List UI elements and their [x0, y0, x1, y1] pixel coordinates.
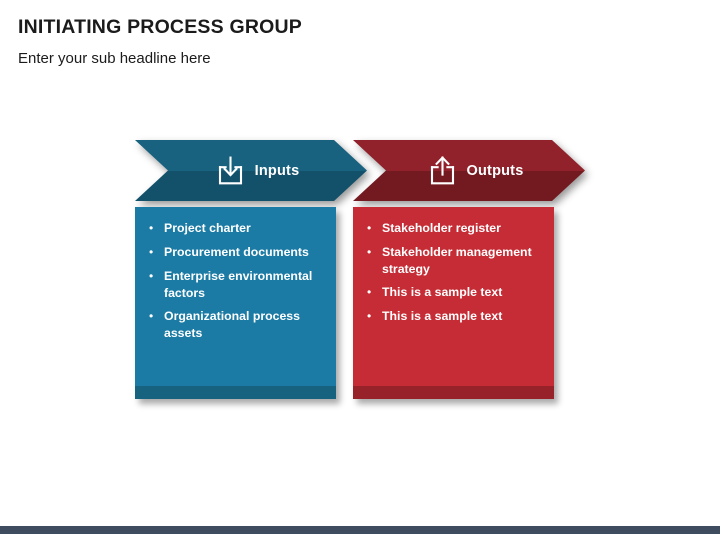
bullet-dot-icon: •	[363, 284, 382, 301]
page-subtitle: Enter your sub headline here	[18, 50, 211, 67]
bullet-dot-icon: •	[145, 244, 164, 261]
banner-bottom-half	[353, 171, 585, 202]
list-item[interactable]: • Enterprise environmental factors	[145, 268, 324, 301]
list-item[interactable]: • This is a sample text	[363, 284, 542, 301]
list-item[interactable]: • Project charter	[145, 220, 324, 237]
banner-chevron-shape	[135, 140, 367, 201]
list-item-label: Procurement documents	[164, 244, 309, 261]
list-item-label: This is a sample text	[382, 308, 502, 325]
column-outputs: Outputs • Stakeholder register • Stakeho…	[353, 140, 585, 201]
list-item-label: Project charter	[164, 220, 251, 237]
banner-top-half	[135, 140, 367, 171]
panel-footer-strip	[353, 386, 554, 399]
bullet-dot-icon: •	[145, 308, 164, 325]
banner-top-half	[353, 140, 585, 171]
list-item-label: Stakeholder management strategy	[382, 244, 542, 277]
list-item-label: This is a sample text	[382, 284, 502, 301]
bullet-dot-icon: •	[363, 220, 382, 237]
list-item[interactable]: • Organizational process assets	[145, 308, 324, 341]
banner-bottom-half	[135, 171, 367, 202]
bullet-list-outputs: • Stakeholder register • Stakeholder man…	[353, 207, 554, 325]
panel-outputs: • Stakeholder register • Stakeholder man…	[353, 207, 554, 399]
list-item[interactable]: • Procurement documents	[145, 244, 324, 261]
bullet-dot-icon: •	[145, 220, 164, 237]
list-item-label: Enterprise environmental factors	[164, 268, 324, 301]
column-inputs: Inputs • Project charter • Procurement d…	[135, 140, 367, 201]
bullet-dot-icon: •	[145, 268, 164, 285]
bullet-dot-icon: •	[363, 244, 382, 261]
slide-canvas: INITIATING PROCESS GROUP Enter your sub …	[0, 0, 720, 540]
list-item[interactable]: • This is a sample text	[363, 308, 542, 325]
footer-bar	[0, 526, 720, 534]
panel-inputs: • Project charter • Procurement document…	[135, 207, 336, 399]
list-item-label: Stakeholder register	[382, 220, 501, 237]
page-title: INITIATING PROCESS GROUP	[18, 16, 302, 39]
list-item-label: Organizational process assets	[164, 308, 324, 341]
banner-outputs[interactable]: Outputs	[353, 140, 585, 201]
banner-chevron-shape	[353, 140, 585, 201]
list-item[interactable]: • Stakeholder management strategy	[363, 244, 542, 277]
bullet-list-inputs: • Project charter • Procurement document…	[135, 207, 336, 341]
bullet-dot-icon: •	[363, 308, 382, 325]
banner-inputs[interactable]: Inputs	[135, 140, 367, 201]
list-item[interactable]: • Stakeholder register	[363, 220, 542, 237]
panel-footer-strip	[135, 386, 336, 399]
